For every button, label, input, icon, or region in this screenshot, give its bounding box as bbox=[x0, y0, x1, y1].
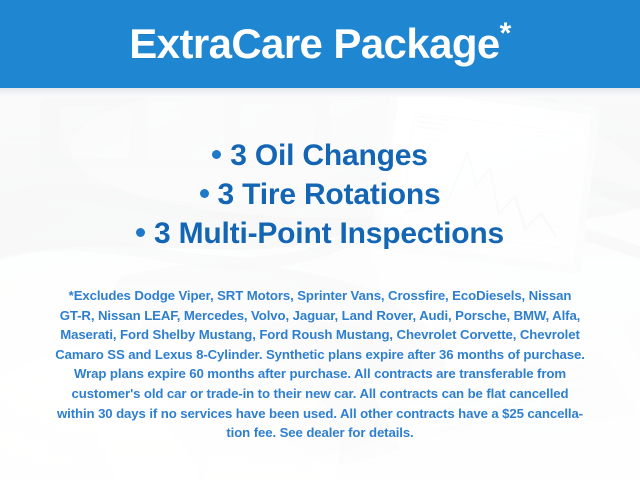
benefit-label: 3 Multi-Point Inspections bbox=[154, 217, 504, 250]
header-bar: ExtraCare Package* bbox=[0, 0, 640, 88]
disclaimer-text: *Excludes Dodge Viper, SRT Motors, Sprin… bbox=[18, 286, 622, 443]
disclaimer-line: *Excludes Dodge Viper, SRT Motors, Sprin… bbox=[18, 286, 622, 306]
disclaimer-line: customer's old car or trade-in to their … bbox=[18, 384, 622, 404]
disclaimer-line: within 30 days if no services have been … bbox=[18, 404, 622, 424]
list-item: 3 Tire Rotations bbox=[0, 175, 640, 214]
benefits-list: 3 Oil Changes 3 Tire Rotations 3 Multi-P… bbox=[0, 136, 640, 253]
title-asterisk: * bbox=[500, 17, 511, 50]
disclaimer-line: tion fee. See dealer for details. bbox=[18, 423, 622, 443]
disclaimer-line: Maserati, Ford Shelby Mustang, Ford Rous… bbox=[18, 325, 622, 345]
bullet-dot-icon bbox=[212, 150, 221, 159]
disclaimer-line: GT-R, Nissan LEAF, Mercedes, Volvo, Jagu… bbox=[18, 306, 622, 326]
list-item: 3 Multi-Point Inspections bbox=[0, 214, 640, 253]
benefit-label: 3 Tire Rotations bbox=[218, 178, 441, 211]
list-item: 3 Oil Changes bbox=[0, 136, 640, 175]
bullet-dot-icon bbox=[136, 228, 145, 237]
disclaimer-line: Wrap plans expire 60 months after purcha… bbox=[18, 364, 622, 384]
extracare-package-ad: ExtraCare Package* 3 Oil Changes 3 Tire … bbox=[0, 0, 640, 480]
disclaimer-line: Camaro SS and Lexus 8-Cylinder. Syntheti… bbox=[18, 345, 622, 365]
page-title: ExtraCare Package* bbox=[129, 23, 510, 65]
benefit-label: 3 Oil Changes bbox=[230, 139, 427, 172]
page-title-text: ExtraCare Package bbox=[129, 20, 499, 67]
bullet-dot-icon bbox=[200, 189, 209, 198]
